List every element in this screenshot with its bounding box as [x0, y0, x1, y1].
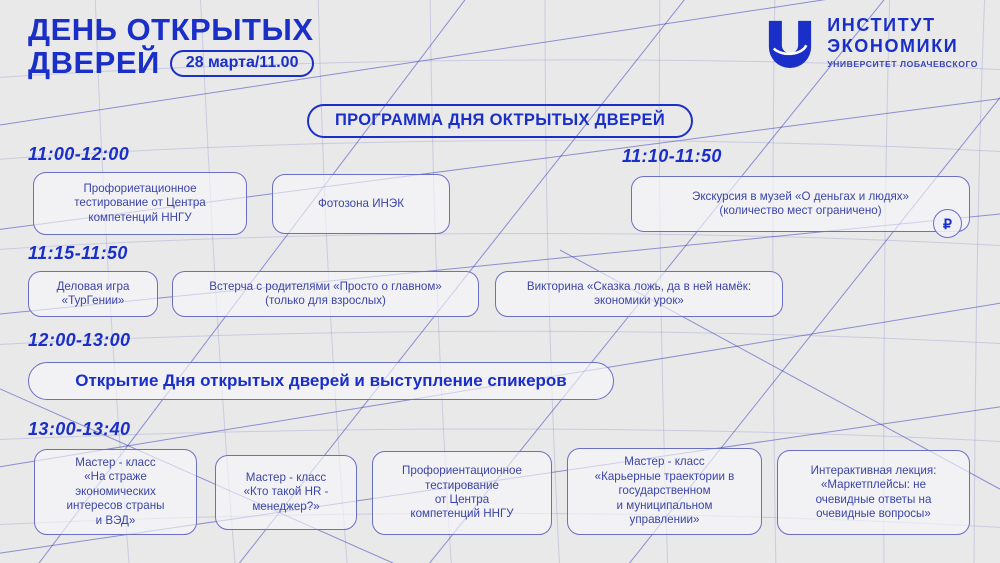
session-card-opening-and-speakers[interactable]: Открытие Дня открытых дверей и выступлен…	[28, 362, 614, 400]
time-label-1300-1340: 13:00-13:40	[28, 419, 130, 440]
title-row-secondary: ДВЕРЕЙ 28 марта/11.00	[28, 47, 314, 79]
time-label-1200-1300: 12:00-13:00	[28, 330, 130, 351]
session-card-quiz-skazka-lozh[interactable]: Викторина «Сказка ложь, да в ней намёк: …	[495, 271, 783, 317]
session-card-photozone-inek[interactable]: Фотозона ИНЭК	[272, 174, 450, 234]
poster-canvas: ДЕНЬ ОТКРЫТЫХ ДВЕРЕЙ 28 марта/11.00 ИНСТ…	[0, 0, 1000, 563]
time-label-1115-1150: 11:15-11:50	[28, 243, 128, 264]
institute-logo: ИНСТИТУТ ЭКОНОМИКИ УНИВЕРСИТЕТ ЛОБАЧЕВСК…	[764, 16, 978, 69]
session-card-proforientation-testing-1100[interactable]: Профориетационное тестирование от Центра…	[33, 172, 247, 235]
session-card-interactive-lecture-marketplaces[interactable]: Интерактивная лекция: «Маркетплейсы: не …	[777, 450, 970, 535]
session-card-masterclass-career-paths[interactable]: Мастер - класс «Карьерные траектории в г…	[567, 448, 762, 535]
ruble-price-badge: ₽	[933, 209, 962, 238]
logo-line-economics: ЭКОНОМИКИ	[827, 37, 978, 55]
session-card-masterclass-hr-manager[interactable]: Мастер - класс «Кто такой HR - менеджер?…	[215, 455, 357, 530]
session-card-business-game-turgenii[interactable]: Деловая игра «ТурГении»	[28, 271, 158, 317]
poster-header: ДЕНЬ ОТКРЫТЫХ ДВЕРЕЙ 28 марта/11.00 ИНСТ…	[0, 0, 1000, 96]
date-time-badge: 28 марта/11.00	[170, 50, 315, 77]
session-card-masterclass-economic-interests[interactable]: Мастер - класс «На страже экономических …	[34, 449, 197, 535]
session-card-parents-meeting[interactable]: Встерча с родителями «Просто о главном» …	[172, 271, 479, 317]
logo-line-institute: ИНСТИТУТ	[827, 16, 978, 34]
program-title-pill: ПРОГРАММА ДНЯ ОКТРЫТЫХ ДВЕРЕЙ	[307, 104, 693, 138]
session-card-museum-excursion[interactable]: Экскурсия в музей «О деньгах и людях» (к…	[631, 176, 970, 232]
title-block: ДЕНЬ ОТКРЫТЫХ ДВЕРЕЙ 28 марта/11.00	[28, 14, 314, 79]
u-logo-icon	[764, 16, 816, 68]
page-title-line1: ДЕНЬ ОТКРЫТЫХ	[28, 14, 314, 46]
logo-line-university: УНИВЕРСИТЕТ ЛОБАЧЕВСКОГО	[827, 60, 978, 69]
time-label-1100-1200: 11:00-12:00	[28, 144, 129, 165]
page-title-line2: ДВЕРЕЙ	[28, 47, 160, 79]
time-label-1110-1150: 11:10-11:50	[622, 146, 722, 167]
session-card-proforientation-testing-1300[interactable]: Профориентационное тестирование от Центр…	[372, 451, 552, 535]
logo-text-block: ИНСТИТУТ ЭКОНОМИКИ УНИВЕРСИТЕТ ЛОБАЧЕВСК…	[827, 16, 978, 69]
